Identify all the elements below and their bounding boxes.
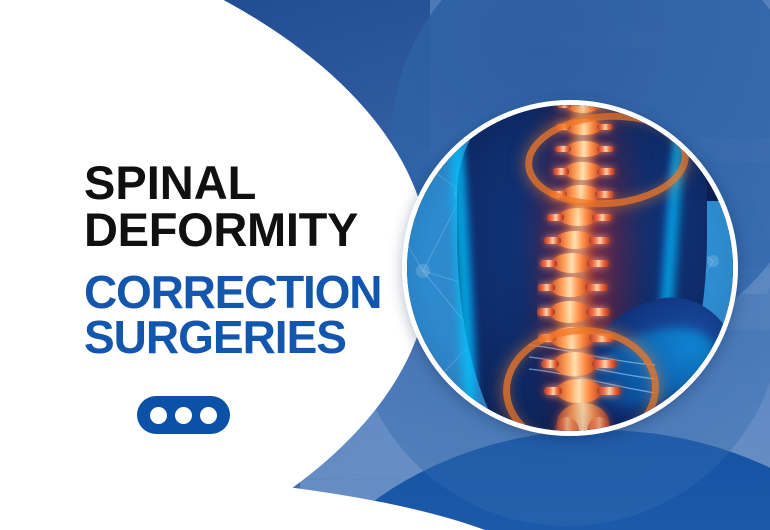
pill-dot-3 (200, 407, 217, 424)
headline-line-spinal: SPINAL (84, 160, 424, 205)
medical-banner: SPINAL DEFORMITY CORRECTION SURGERIES (0, 0, 770, 530)
pill-dot-1 (150, 407, 167, 424)
headline-line-deformity: DEFORMITY (84, 207, 424, 252)
pill-dot-2 (175, 407, 192, 424)
headline-block: SPINAL DEFORMITY CORRECTION SURGERIES (84, 160, 424, 360)
three-dot-pill (137, 396, 230, 434)
headline-line-correction: CORRECTION (84, 270, 424, 314)
headline-line-surgeries: SURGERIES (84, 315, 424, 359)
spine-photo-inner (407, 105, 733, 431)
spine-photo-circle (402, 100, 738, 436)
